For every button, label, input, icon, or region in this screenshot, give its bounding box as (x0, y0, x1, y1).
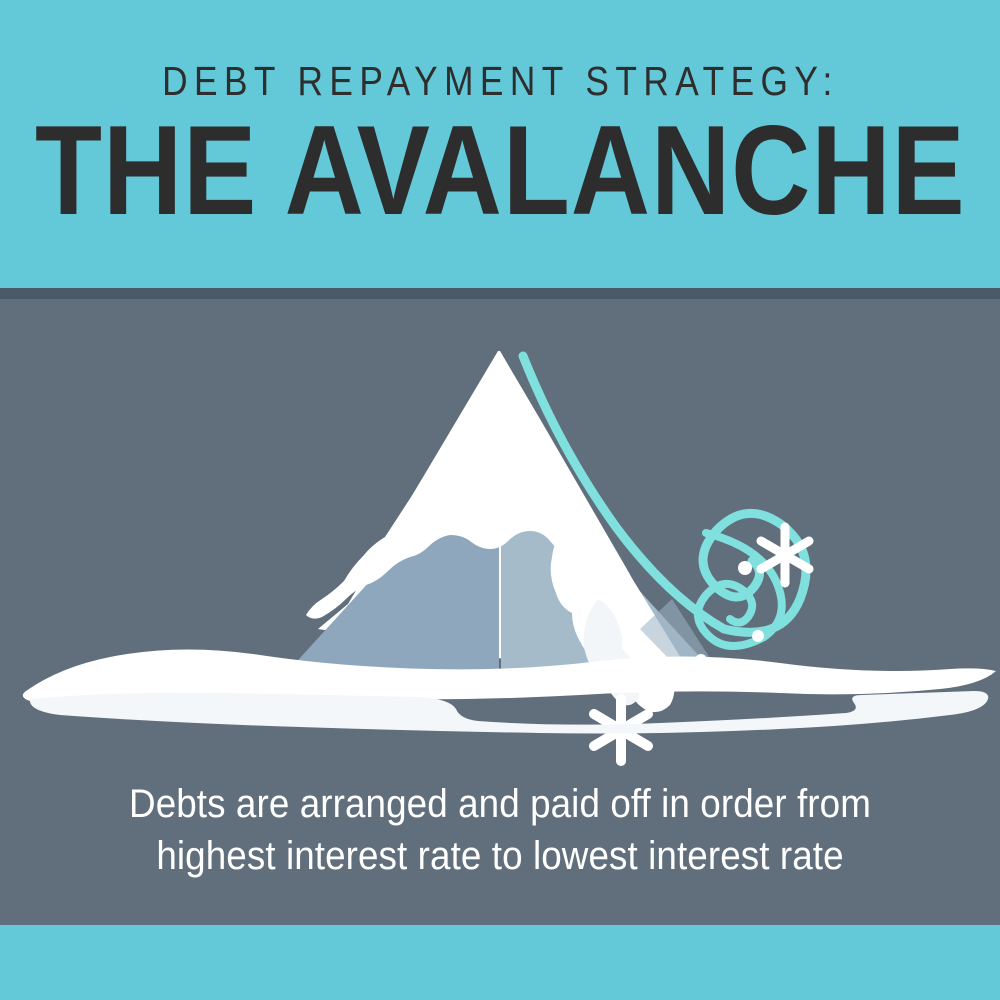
page-title: THE AVALANCHE (35, 110, 966, 231)
mountain-illustration-svg (0, 299, 1000, 769)
caption-line-1: Debts are arranged and paid off in order… (40, 778, 960, 830)
eyebrow-text: DEBT REPAYMENT STRATEGY: (162, 61, 839, 102)
mountain-illustration (0, 299, 1000, 769)
snow-dot (752, 630, 764, 642)
snow-dot (738, 561, 752, 575)
footer-band (0, 925, 1000, 1000)
wind-swirl-upper (703, 513, 806, 632)
caption-line-2: highest interest rate to lowest interest… (40, 830, 960, 882)
header-divider (0, 288, 1000, 299)
header-band: DEBT REPAYMENT STRATEGY: THE AVALANCHE (0, 0, 1000, 288)
poster-root: DEBT REPAYMENT STRATEGY: THE AVALANCHE (0, 0, 1000, 1000)
caption-text: Debts are arranged and paid off in order… (40, 778, 960, 883)
